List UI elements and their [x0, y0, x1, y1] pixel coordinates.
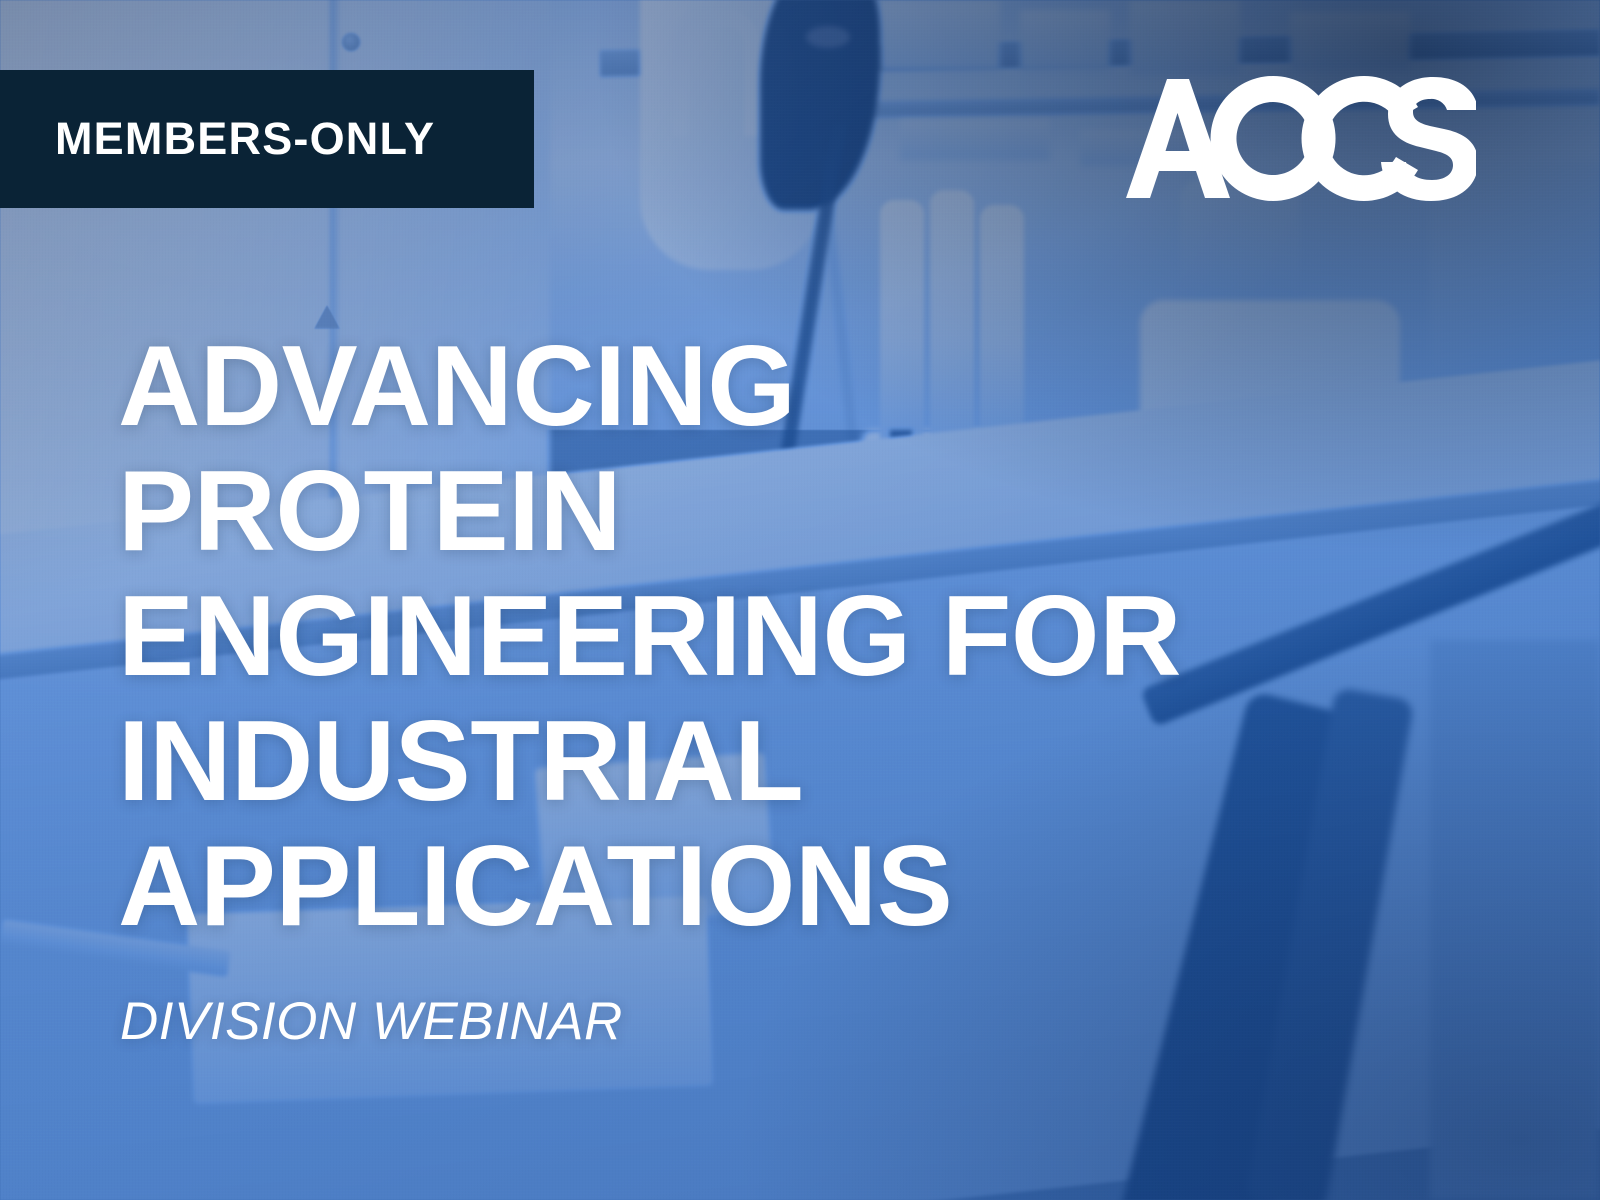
- members-only-badge-label: MEMBERS-ONLY: [0, 113, 435, 165]
- headline-line-1: ADVANCING: [118, 324, 1398, 449]
- headline-line-5: APPLICATIONS: [118, 824, 1398, 949]
- promo-graphic: MEMBERS-ONLY ADVANCING PROTEIN ENGINEERI: [0, 0, 1600, 1200]
- headline-line-4: INDUSTRIAL: [118, 699, 1398, 824]
- members-only-badge: MEMBERS-ONLY: [0, 70, 534, 208]
- overlay-content: MEMBERS-ONLY ADVANCING PROTEIN ENGINEERI: [0, 0, 1600, 1200]
- headline-line-2: PROTEIN: [118, 449, 1398, 574]
- aocs-logo: [1126, 76, 1476, 201]
- headline: ADVANCING PROTEIN ENGINEERING FOR INDUST…: [118, 324, 1398, 949]
- headline-line-3: ENGINEERING FOR: [118, 574, 1398, 699]
- event-type-subtitle: DIVISION WEBINAR: [120, 991, 623, 1052]
